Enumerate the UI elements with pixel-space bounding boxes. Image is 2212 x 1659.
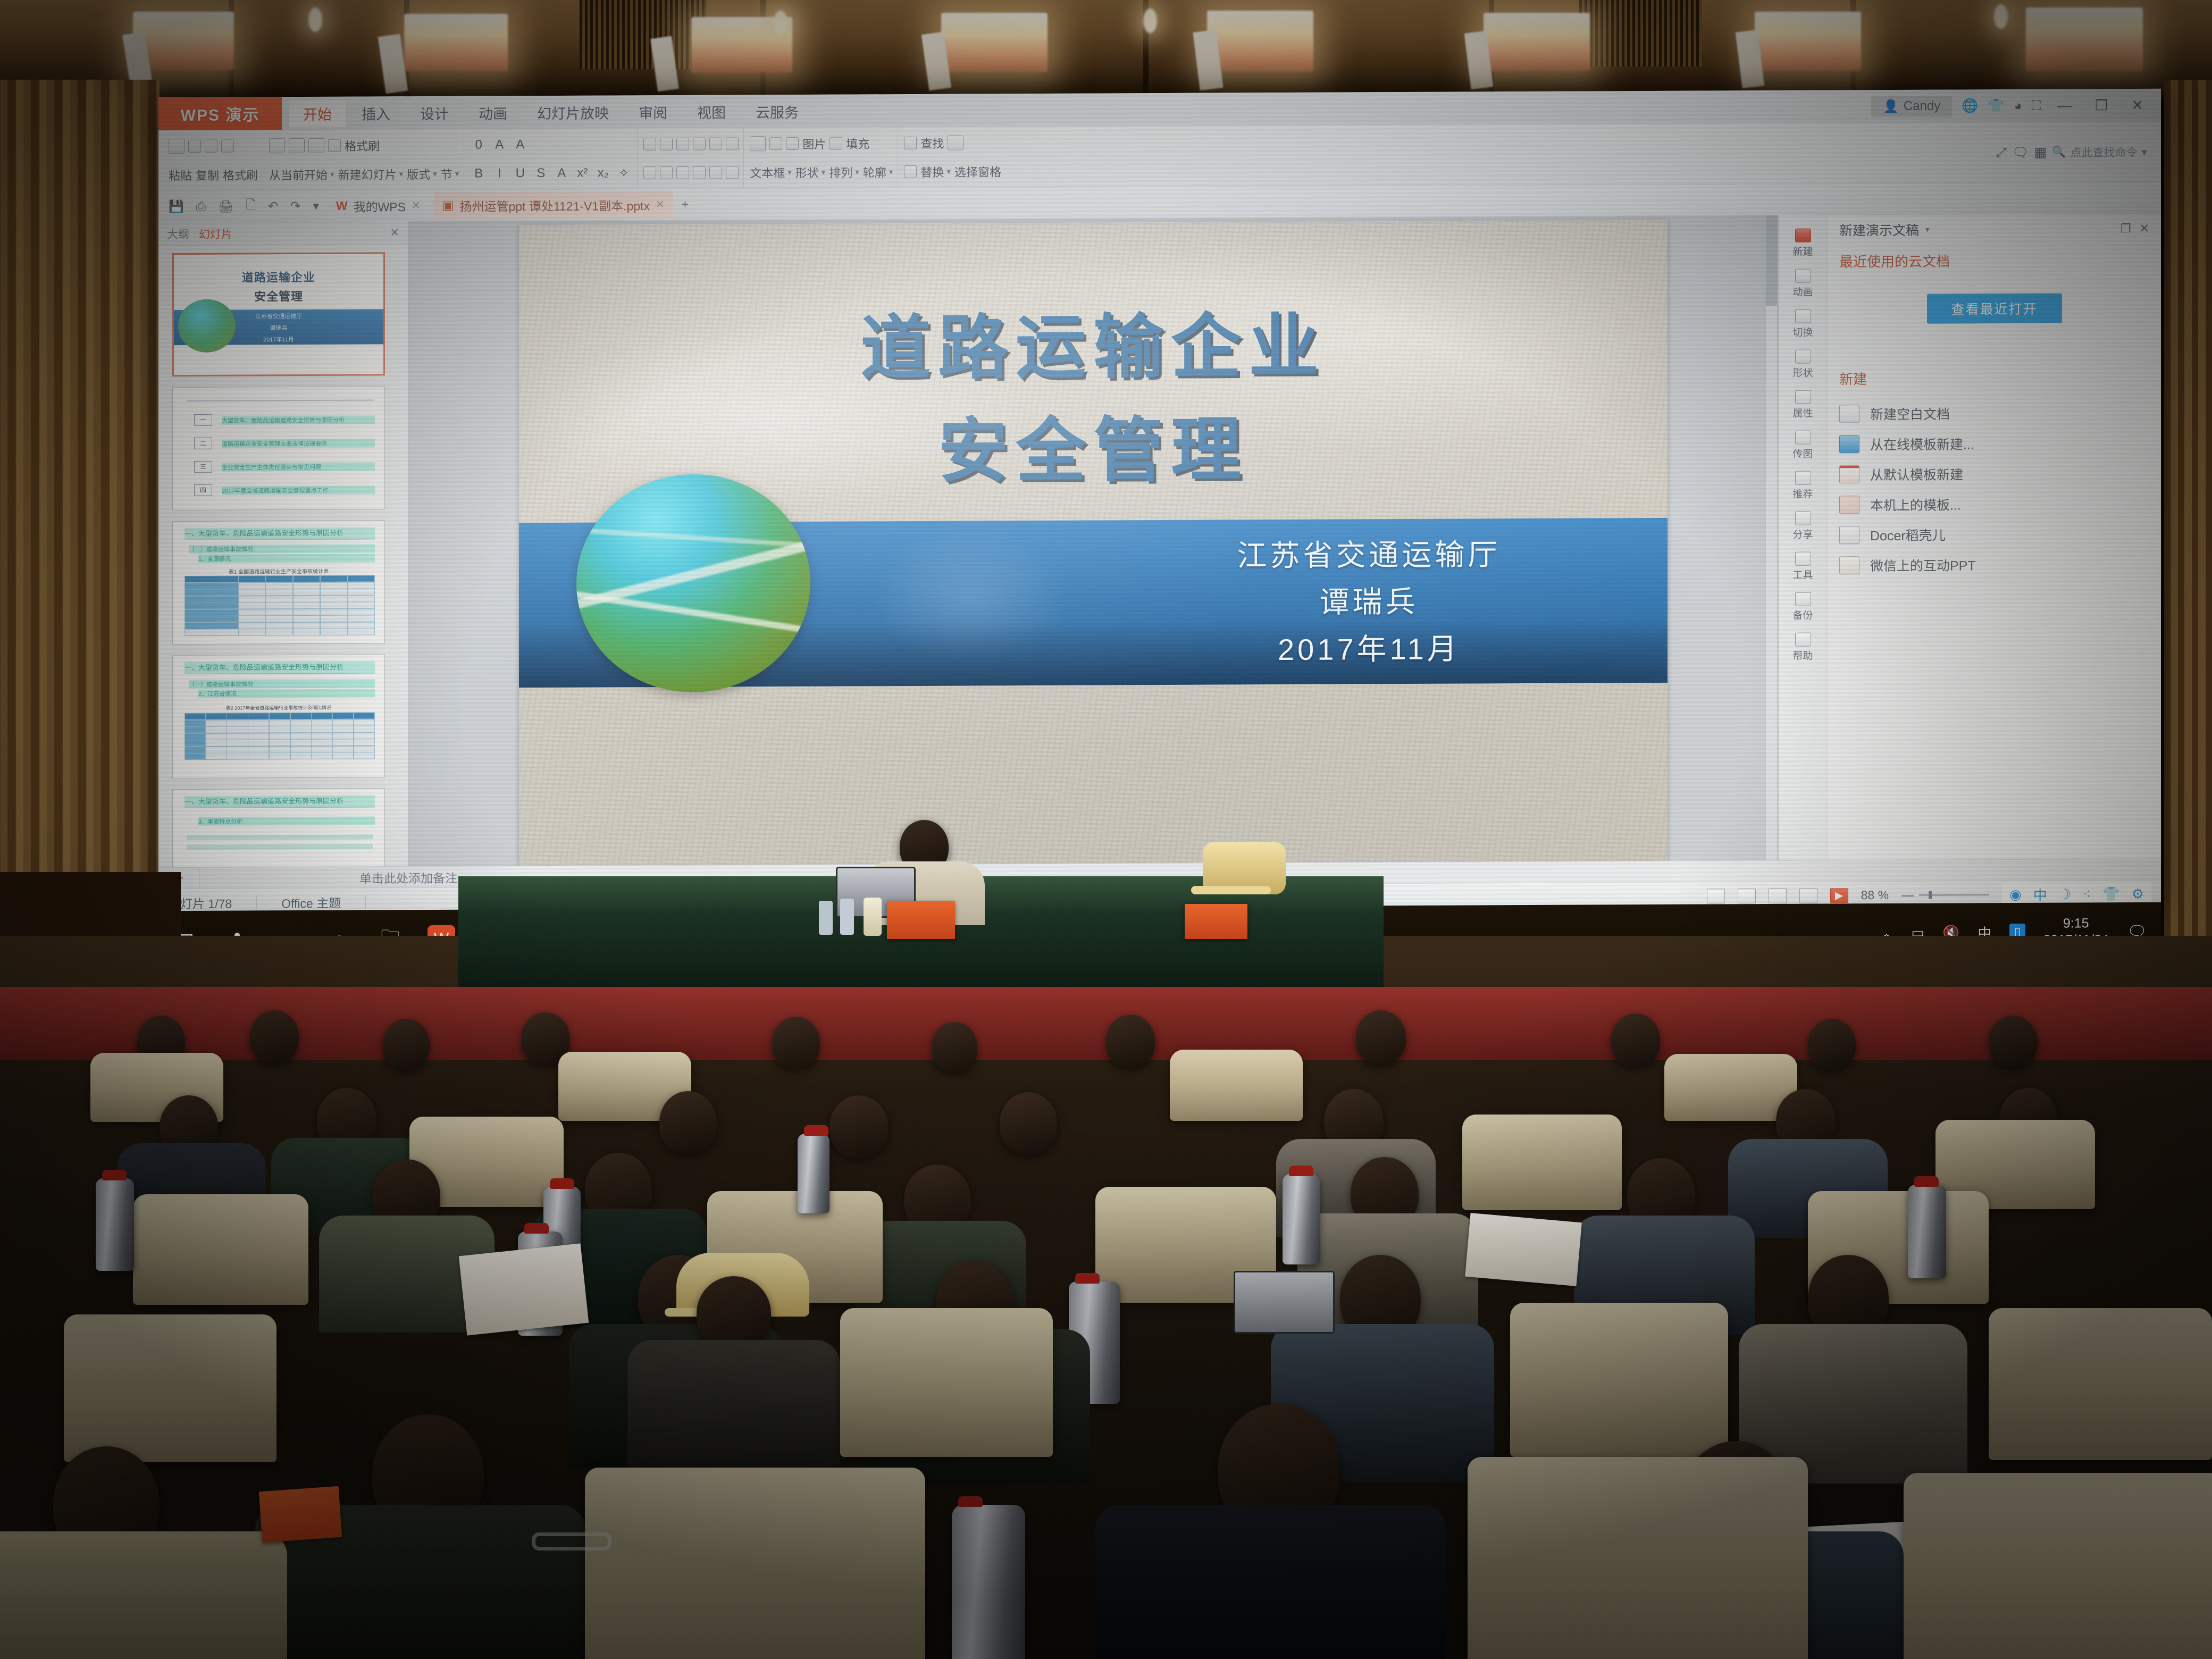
rail-item-backup[interactable]: 备份: [1779, 588, 1827, 627]
interchange-aerial-globe-image: [576, 474, 810, 693]
attendee-head: [383, 1019, 430, 1070]
chevron-down-icon: ▾: [330, 170, 334, 179]
projection-screen: WPS 演示 开始 插入 设计 动画 幻灯片放映 审阅 视图 云服务 👤 Can…: [158, 89, 2161, 916]
thumb2-item-4: 2017年度全省道路运输安全管理重点工作: [222, 485, 375, 495]
option-blank-document-label: 新建空白文档: [1870, 404, 1950, 424]
menu-tab-row: 开始 插入 设计 动画 幻灯片放映 审阅 视图 云服务: [282, 95, 812, 130]
print-icon[interactable]: 🖨: [214, 199, 237, 214]
align-center-icon[interactable]: [660, 166, 673, 179]
attendee-head-with-cap: [697, 1276, 771, 1351]
selection-pane-label[interactable]: 选择窗格: [954, 163, 1001, 180]
attendee-head: [1989, 1016, 2038, 1068]
blank-document-icon: [1839, 405, 1859, 423]
normal-view-icon[interactable]: [1707, 889, 1725, 903]
attendee-head: [1808, 1019, 1856, 1070]
thumb5-heading: 一、大型货车、危险品运输道路安全形势与原因分析: [185, 795, 375, 808]
copy-label[interactable]: 复制: [196, 166, 219, 183]
thumb4-sub2: 2．江苏省情况: [198, 689, 375, 698]
shapes-button[interactable]: 形状▾: [795, 164, 826, 181]
menu-tab-insert[interactable]: 插入: [348, 99, 404, 127]
rail-label-transition: 切换: [1792, 325, 1813, 339]
ribbon-group-font: 0 A A B I U S A x² x₂ ✧: [465, 128, 638, 189]
rail-item-tools[interactable]: 工具: [1779, 547, 1827, 586]
option-docer[interactable]: Docer稻壳儿: [1839, 524, 2149, 545]
rail-item-new[interactable]: 新建: [1779, 224, 1827, 263]
chair: [840, 1308, 1053, 1457]
line-spacing-icon[interactable]: [709, 138, 722, 150]
shape-fill-icon[interactable]: [769, 137, 782, 150]
section-button[interactable]: 节▾: [441, 165, 459, 182]
chair: [1510, 1303, 1728, 1457]
find-label[interactable]: 查找: [920, 135, 944, 152]
attendee-head: [250, 1010, 299, 1063]
thumb3-caption: 表1 全国道路运输行业生产安全事故统计表: [173, 566, 384, 575]
ribbon-group-clipboard: 粘贴 复制 格式刷: [164, 130, 263, 191]
panel-header: 新建演示文稿 ▾ ❐ ✕: [1839, 219, 2149, 240]
eyeglasses: [532, 1532, 611, 1551]
option-online-template-label: 从在线模板新建...: [1870, 434, 1974, 454]
recommend-icon: [1795, 471, 1811, 485]
slide-credits: 江苏省交通运输厅 谭瑞兵 2017年11月: [1116, 531, 1621, 674]
thumb1-globe-image: [178, 299, 236, 353]
painter-label[interactable]: 格式刷: [223, 166, 258, 183]
water-bottle: [819, 901, 833, 935]
search-icon: 🔍: [2052, 146, 2066, 159]
close-icon[interactable]: ✕: [390, 226, 399, 239]
print-preview-icon[interactable]: 🗋: [242, 196, 259, 216]
font-grow-icon[interactable]: A: [491, 137, 508, 152]
format-painter-icon[interactable]: [221, 140, 234, 153]
comment-icon[interactable]: 🗨: [2012, 145, 2029, 160]
picture-icon[interactable]: [786, 137, 799, 150]
new-document-options: 新建空白文档 从在线模板新建... 从默认模板新建 本机上的模板...: [1839, 403, 2149, 575]
slide-canvas: 道路运输企业 安全管理 江苏省交通运输厅 谭瑞兵 2017年11月: [408, 215, 1778, 866]
doc-tab-active-file[interactable]: ▣ 扬州运管ppt 谭处1121-V1副本.pptx ✕: [434, 191, 673, 219]
close-icon[interactable]: ✕: [412, 199, 421, 212]
replace-button[interactable]: 替换▾: [920, 163, 951, 180]
slide-thumbnail-5[interactable]: 一、大型货车、危险品运输道路安全形势与原因分析 3．事故特点分析: [172, 788, 385, 867]
decrease-indent-icon[interactable]: [676, 138, 689, 150]
attendee-body: [627, 1340, 840, 1489]
docer-icon: [1839, 526, 1859, 544]
attendee-body-front: [0, 1531, 287, 1659]
zoom-level: 88 %: [1861, 888, 1889, 902]
moon-icon[interactable]: ☽: [2059, 886, 2071, 903]
option-blank-document[interactable]: 新建空白文档: [1839, 403, 2149, 424]
panel-content: 新建演示文稿 ▾ ❐ ✕ 最近使用的云文档 查看最近打开 新建 新建空白文档: [1828, 214, 2161, 860]
clock-time: 9:15: [2043, 915, 2109, 932]
ppt-file-icon: ▣: [442, 198, 454, 213]
new-slide-label: 新建幻灯片: [338, 165, 397, 182]
chair-front: [585, 1468, 925, 1659]
slide-sorter-icon[interactable]: [1738, 889, 1756, 903]
help-icon: [1795, 633, 1811, 647]
layout-button[interactable]: 版式▾: [407, 165, 437, 182]
attendee-tablet: [1234, 1271, 1335, 1334]
thermos-flask-foreground: [952, 1505, 1025, 1659]
rail-item-shape[interactable]: 形状: [1779, 345, 1827, 384]
paste-icon[interactable]: [169, 139, 185, 154]
local-template-icon: [1839, 496, 1859, 514]
restore-button[interactable]: ❐: [2088, 97, 2115, 114]
animation-icon: [1795, 269, 1811, 283]
redo-icon[interactable]: ↷: [287, 199, 304, 213]
slide-thumbnail-panel: 大纲 幻灯片 ✕ 道路运输企业 安全管理 江苏省交通运输厅 谭瑞兵 2017年1…: [158, 221, 408, 867]
attendee-head: [1106, 1015, 1155, 1068]
numbering-icon[interactable]: [660, 138, 673, 150]
option-docer-label: Docer稻壳儿: [1870, 525, 1946, 545]
chevron-down-icon: ▾: [787, 167, 792, 177]
slides-tab[interactable]: 幻灯片: [199, 225, 232, 241]
thumb2-num-3: 三: [194, 461, 212, 473]
panel-rail: 新建 动画 切换 形状: [1779, 215, 1828, 860]
view-recent-opened-button[interactable]: 查看最近打开: [1927, 294, 2062, 324]
attendee-head: [932, 1022, 977, 1072]
command-search-box[interactable]: 🔍 点此查找命令 ▾: [2052, 144, 2147, 161]
title-bar-actions: 👤 Candy 🌐 👕 ◕ ⛶ — ❐ ✕: [1871, 89, 2161, 123]
ribbon-group-paragraph: [639, 128, 744, 189]
thumb2-num-2: 二: [194, 438, 212, 449]
paste-label[interactable]: 粘贴: [169, 166, 192, 183]
thumbnail-list: 道路运输企业 安全管理 江苏省交通运输厅 谭瑞兵 2017年11月 一 大型货车…: [158, 245, 408, 867]
fill-icon[interactable]: [829, 137, 842, 150]
bold-button[interactable]: B: [470, 166, 487, 181]
thumb4-caption: 表2 2017年全省道路运输行业事故统计及同比情况: [173, 703, 384, 711]
thumb2-num-4: 四: [194, 484, 212, 496]
handout-paper: [459, 1243, 589, 1335]
account-name: Candy: [1904, 99, 1940, 114]
ribbon-search-area: ⤢ 🗨 ▦ 🔍 点此查找命令 ▾: [1996, 144, 2156, 161]
tools-icon: [1795, 552, 1811, 566]
picture-label[interactable]: 图片: [802, 135, 826, 152]
rail-label-backup: 备份: [1792, 608, 1813, 622]
rail-label-share: 分享: [1792, 527, 1813, 541]
tea-cup: [864, 898, 882, 936]
rail-label-new: 新建: [1792, 244, 1813, 258]
rail-item-upload-image[interactable]: 传图: [1779, 426, 1827, 465]
thumb2-item-3: 企业安全生产主体责任落实与常见问题: [222, 462, 375, 471]
slide-thumbnail-3[interactable]: 一、大型货车、危险品运输道路安全形势与原因分析 （一）道路运输事故情况 1．全国…: [172, 520, 385, 644]
thumb1-title-line1: 道路运输企业: [174, 267, 383, 286]
rail-label-upload-image: 传图: [1792, 446, 1813, 460]
ceiling: [0, 0, 2212, 98]
rail-item-transition[interactable]: 切换: [1779, 305, 1827, 344]
ribbon-toolbar: 粘贴 复制 格式刷 格式刷 从当前开始▾: [158, 122, 2161, 191]
shapes-label: 形状: [795, 164, 819, 181]
close-icon[interactable]: ✕: [656, 198, 665, 211]
chair: [64, 1314, 276, 1462]
attendee-head: [1611, 1013, 1660, 1067]
doc-tab-my-wps-label: 我的WPS: [354, 197, 406, 215]
option-online-template[interactable]: 从在线模板新建...: [1839, 433, 2149, 454]
thermos-flask: [798, 1134, 829, 1213]
undo-icon[interactable]: ↶: [264, 199, 282, 213]
align-right-icon[interactable]: [676, 166, 689, 179]
menu-tab-slideshow[interactable]: 幻灯片放映: [523, 98, 623, 126]
start-from-current-label: 从当前开始: [269, 166, 328, 183]
italic-button[interactable]: I: [491, 166, 508, 181]
rail-item-recommend[interactable]: 推荐: [1779, 466, 1827, 506]
chair-front: [1468, 1457, 1808, 1659]
account-chip[interactable]: 👤 Candy: [1871, 96, 1952, 117]
align-left-icon[interactable]: [643, 166, 656, 179]
thumb2-num-1: 一: [194, 414, 212, 426]
handout-paper: [1465, 1213, 1582, 1286]
notes-view-icon[interactable]: [1799, 888, 1817, 903]
rail-item-properties[interactable]: 属性: [1779, 386, 1827, 425]
help-circle-icon[interactable]: ◕: [2014, 98, 2022, 113]
sogou-tshirt-icon[interactable]: 👕: [2102, 886, 2119, 902]
ribbon-group-slides: 格式刷 从当前开始▾ 新建幻灯片▾ 版式▾ 节▾: [264, 129, 464, 191]
clear-format-icon[interactable]: ✧: [615, 165, 632, 181]
selection-pane-icon[interactable]: [948, 136, 963, 150]
panel-window-actions: ❐ ✕: [2121, 222, 2149, 236]
panel-title: 新建演示文稿: [1839, 220, 1919, 240]
slide-thumbnail-1[interactable]: 道路运输企业 安全管理 江苏省交通运输厅 谭瑞兵 2017年11月: [172, 252, 385, 376]
chair: [1462, 1115, 1622, 1210]
left-curtain: [0, 80, 160, 957]
current-slide[interactable]: 道路运输企业 安全管理 江苏省交通运输厅 谭瑞兵 2017年11月: [519, 220, 1668, 873]
wps-brand-logo[interactable]: WPS 演示: [158, 97, 282, 130]
doc-tab-active-file-label: 扬州运管ppt 谭处1121-V1副本.pptx: [459, 196, 649, 215]
arrange-label: 排列: [829, 164, 852, 181]
chair: [133, 1194, 308, 1305]
outline-tab[interactable]: 大纲: [167, 225, 189, 241]
chevron-down-icon: ▾: [889, 167, 893, 177]
attendee-head: [659, 1091, 717, 1154]
textbox-button[interactable]: 文本框▾: [750, 164, 792, 181]
arrange-button[interactable]: 排列▾: [829, 163, 859, 180]
thumbnail-panel-header: 大纲 幻灯片 ✕: [158, 221, 408, 246]
attendee-head: [1000, 1092, 1057, 1154]
reset-icon[interactable]: [328, 139, 341, 152]
section-label: 节: [441, 165, 453, 182]
minimize-button[interactable]: —: [2050, 97, 2079, 114]
option-default-template[interactable]: 从默认模板新建: [1839, 464, 2149, 484]
thumb3-table: [185, 575, 375, 636]
settings-small-icon[interactable]: ⁖: [2083, 886, 2091, 902]
thumb2-item-1: 大型货车、危险品运输道路安全形势与原因分析: [222, 415, 375, 424]
presenter-nameplate: [887, 901, 955, 939]
subscript-button[interactable]: x₂: [594, 165, 611, 180]
new-slide-button[interactable]: 新建幻灯片▾: [338, 165, 404, 183]
name-tent-card: [259, 1486, 342, 1543]
panel-restore-button[interactable]: ❐: [2121, 222, 2131, 236]
attendee-body-front: [1095, 1505, 1446, 1659]
thermos-flask: [96, 1178, 134, 1271]
chevron-down-icon: ▾: [433, 169, 437, 179]
second-nameplate: [1185, 904, 1247, 939]
align-vertical-icon[interactable]: [726, 166, 739, 179]
globe-icon[interactable]: 🌐: [1962, 98, 1978, 114]
menu-tab-cloud[interactable]: 云服务: [742, 97, 812, 125]
thumb2-item-2: 道路运输企业安全管理主要法律法规要求: [222, 439, 375, 448]
slide-presenter: 谭瑞兵: [1116, 578, 1621, 627]
chevron-down-icon: ▾: [455, 169, 459, 179]
font-color-button[interactable]: A: [553, 166, 570, 181]
save-icon[interactable]: 💾: [165, 199, 188, 214]
superscript-button[interactable]: x²: [574, 166, 591, 181]
slide-thumbnail-2[interactable]: 一 大型货车、危险品运输道路安全形势与原因分析 二 道路运输企业安全管理主要法律…: [172, 386, 385, 510]
shirt-icon[interactable]: 👕: [1988, 98, 2004, 114]
option-wechat-ppt-label: 微信上的互动PPT: [1870, 555, 1976, 575]
rail-item-share[interactable]: 分享: [1779, 507, 1827, 546]
ribbon-group-editing: 查找 替换▾ 选择窗格: [899, 127, 1006, 188]
attendee-head: [772, 1017, 820, 1069]
fill-label[interactable]: 填充: [846, 135, 869, 152]
thumb5-sub1: 3．事故特点分析: [198, 816, 375, 825]
fullscreen-icon[interactable]: ⛶: [2032, 98, 2041, 113]
thumb4-sub1: （一）道路运输事故情况: [189, 679, 375, 689]
copy-icon[interactable]: [205, 140, 217, 153]
new-icon: [1795, 229, 1811, 242]
share-icon: [1795, 512, 1811, 525]
justify-icon[interactable]: [693, 166, 706, 179]
chair: [1989, 1308, 2212, 1460]
doc-tab-my-wps[interactable]: W 我的WPS ✕: [328, 192, 429, 219]
thermos-flask: [1908, 1185, 1946, 1278]
sogou-circle-icon[interactable]: ◉: [2009, 886, 2022, 903]
layout-icon[interactable]: [308, 138, 324, 153]
reset-label[interactable]: 格式刷: [345, 137, 380, 154]
thumb4-table: [185, 712, 375, 760]
collaborate-icon[interactable]: ▦: [2034, 145, 2047, 161]
layout-label: 版式: [407, 165, 430, 182]
online-template-icon: [1839, 435, 1859, 453]
outline-label: 轮廓: [863, 163, 886, 180]
zoom-slider[interactable]: —: [1901, 887, 1989, 902]
slide-title-line1: 道路运输企业: [519, 288, 1668, 395]
option-wechat-ppt[interactable]: 微信上的互动PPT: [1839, 555, 2149, 575]
upload-image-icon: [1795, 431, 1811, 445]
menu-tab-design[interactable]: 设计: [406, 99, 463, 126]
gear-icon[interactable]: ⚙: [2132, 886, 2144, 902]
menu-tab-animation[interactable]: 动画: [465, 99, 521, 126]
thumb3-sub1: （一）道路运输事故情况: [189, 544, 375, 554]
avatar-icon: 👤: [1883, 98, 1899, 114]
chair: [1170, 1050, 1303, 1121]
recent-cloud-docs-heading: 最近使用的云文档: [1839, 250, 2149, 271]
textbox-icon[interactable]: [750, 136, 766, 151]
option-local-template-label: 本机上的模板...: [1870, 495, 1961, 514]
new-slide-icon[interactable]: [289, 138, 305, 153]
start-from-current-icon[interactable]: [269, 138, 285, 153]
slide-org: 江苏省交通运输厅: [1116, 531, 1621, 580]
increase-indent-icon[interactable]: [693, 138, 706, 150]
thermos-flask: [1283, 1174, 1320, 1264]
theme-name: Office 主题: [281, 893, 341, 911]
cut-icon[interactable]: [188, 140, 201, 153]
panel-close-button[interactable]: ✕: [2140, 222, 2149, 236]
new-section-heading: 新建: [1839, 367, 2149, 389]
chevron-down-icon: ▾: [399, 169, 404, 179]
textbox-label: 文本框: [750, 164, 785, 181]
properties-icon: [1795, 390, 1811, 404]
notes-placeholder[interactable]: 单击此处添加备注: [359, 868, 457, 886]
text-direction-icon[interactable]: [726, 137, 739, 150]
shape-icon: [1795, 350, 1811, 364]
ribbon-group-drawing: 图片 填充 文本框▾ 形状▾ 排列▾ 轮廓▾: [745, 127, 898, 188]
rail-label-properties: 属性: [1792, 406, 1813, 420]
bullets-icon[interactable]: [643, 138, 656, 150]
start-from-current-button[interactable]: 从当前开始▾: [269, 166, 334, 183]
command-search-placeholder: 点此查找命令: [2070, 144, 2137, 161]
reading-view-icon[interactable]: [1769, 888, 1787, 903]
zoom-slider-knob[interactable]: [1929, 891, 1932, 899]
outline-button[interactable]: 轮廓▾: [863, 163, 893, 180]
chevron-down-icon[interactable]: ▾: [309, 199, 323, 213]
chevron-down-icon: ▾: [822, 167, 826, 177]
font-shrink-icon[interactable]: A: [512, 137, 529, 152]
attendee-head: [1356, 1010, 1406, 1065]
chevron-down-icon: ▾: [946, 167, 951, 177]
rail-label-shape: 形状: [1792, 365, 1813, 380]
ime-chinese-icon[interactable]: 中: [2033, 885, 2047, 904]
new-tab-button[interactable]: +: [678, 197, 692, 212]
rail-label-help: 帮助: [1792, 648, 1813, 663]
canvas-scrollbar[interactable]: [1765, 215, 1777, 860]
default-template-icon: [1839, 465, 1859, 483]
wechat-ppt-icon: [1839, 556, 1859, 574]
wps-logo-icon: W: [336, 199, 348, 213]
transition-icon: [1795, 309, 1811, 323]
rail-label-recommend: 推荐: [1792, 487, 1813, 501]
new-presentation-panel: 新建 动画 切换 形状: [1778, 214, 2161, 860]
slide-date: 2017年11月: [1116, 625, 1621, 674]
rail-item-help[interactable]: 帮助: [1779, 628, 1827, 667]
option-default-template-label: 从默认模板新建: [1870, 464, 1963, 484]
menu-tab-view[interactable]: 视图: [683, 98, 740, 125]
chevron-down-icon[interactable]: ▾: [1925, 225, 1930, 234]
menu-tab-start[interactable]: 开始: [289, 99, 346, 127]
underline-button[interactable]: U: [512, 166, 529, 181]
slide-thumbnail-4[interactable]: 一、大型货车、危险品运输道路安全形势与原因分析 （一）道路运输事故情况 2．江苏…: [172, 654, 385, 778]
audience-area: [0, 936, 2212, 1659]
font-size-value[interactable]: 0: [470, 138, 487, 153]
thumb3-sub2: 1．全国情况: [198, 554, 375, 563]
option-local-template[interactable]: 本机上的模板...: [1839, 494, 2149, 515]
chevron-down-icon: ▾: [855, 167, 859, 177]
rail-item-animation[interactable]: 动画: [1779, 264, 1827, 304]
attendee-head: [829, 1095, 888, 1158]
right-wall: [2164, 80, 2212, 941]
thumb4-heading: 一、大型货车、危险品运输道路安全形势与原因分析: [185, 661, 375, 674]
find-icon[interactable]: [904, 137, 917, 149]
save-as-icon[interactable]: ⎙: [192, 199, 210, 214]
chair-front: [1904, 1473, 2212, 1659]
zoom-out-button[interactable]: —: [1901, 888, 1914, 902]
water-bottle: [840, 899, 854, 935]
replace-label: 替换: [920, 163, 944, 180]
menu-tab-review[interactable]: 审阅: [625, 98, 681, 125]
strikethrough-button[interactable]: S: [532, 166, 549, 181]
play-slideshow-button[interactable]: ▶: [1830, 888, 1848, 903]
rail-label-tools: 工具: [1792, 567, 1813, 582]
backup-icon: [1795, 592, 1811, 606]
zoom-fit-icon[interactable]: ⤢: [1996, 145, 2007, 161]
thumb3-heading: 一、大型货车、危险品运输道路安全形势与原因分析: [185, 527, 375, 540]
conference-hall-photo: WPS 演示 开始 插入 设计 动画 幻灯片放映 审阅 视图 云服务 👤 Can…: [0, 0, 2212, 1659]
empty-chair-headrest: [1203, 842, 1286, 894]
workspace: 大纲 幻灯片 ✕ 道路运输企业 安全管理 江苏省交通运输厅 谭瑞兵 2017年1…: [158, 214, 2161, 867]
replace-icon[interactable]: [904, 165, 917, 178]
close-button[interactable]: ✕: [2124, 97, 2150, 113]
rail-label-animation: 动画: [1792, 284, 1813, 299]
chevron-down-icon: ▾: [2141, 145, 2147, 158]
columns-icon[interactable]: [709, 166, 722, 179]
